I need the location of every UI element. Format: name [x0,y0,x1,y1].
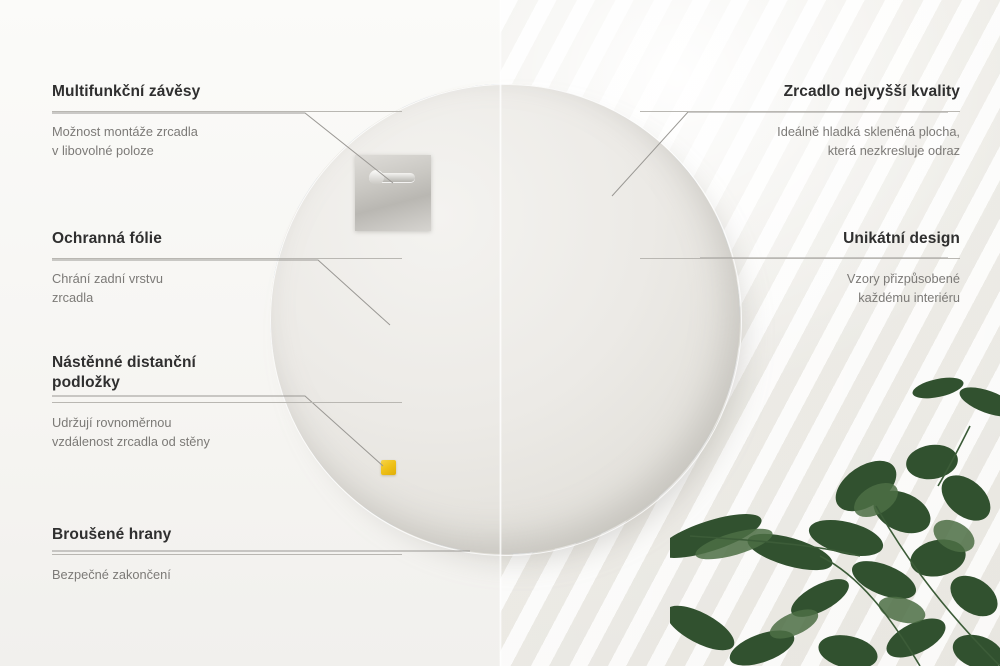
callout-rule [640,111,960,112]
hanger-bracket [355,155,431,231]
callout-title: Broušené hrany [52,525,402,545]
callout-title: Ochranná fólie [52,229,402,249]
callout-brousene-hrany: Broušené hrany Bezpečné zakončení [52,525,402,585]
callout-body: Vzory přizpůsobené každému interiéru [640,270,960,307]
callout-title: Nástěnné distanční podložky [52,353,402,393]
callout-zrcadlo-nejvyssi-kvality: Zrcadlo nejvyšší kvality Ideálně hladká … [640,82,960,160]
split-divider [499,0,502,666]
wall-spacer-pad [381,460,396,475]
callout-multifunkcni-zavesy: Multifunkční závěsy Možnost montáže zrca… [52,82,402,160]
callout-title: Unikátní design [640,229,960,249]
callout-rule [52,402,402,403]
callout-nastenne-distancni-podlozky: Nástěnné distanční podložky Udržují rovn… [52,353,402,451]
callout-rule [640,258,960,259]
callout-rule [52,554,402,555]
callout-title: Multifunkční závěsy [52,82,402,102]
callout-body: Možnost montáže zrcadla v libovolné polo… [52,123,402,160]
callout-ochranna-folie: Ochranná fólie Chrání zadní vrstvu zrcad… [52,229,402,307]
callout-rule [52,258,402,259]
callout-unikatni-design: Unikátní design Vzory přizpůsobené každé… [640,229,960,307]
callout-body: Udržují rovnoměrnou vzdálenost zrcadla o… [52,414,402,451]
product-infographic: Multifunkční závěsy Možnost montáže zrca… [0,0,1000,666]
callout-body: Chrání zadní vrstvu zrcadla [52,270,402,307]
hanger-keyhole-hole [369,170,384,185]
callout-title: Zrcadlo nejvyšší kvality [640,82,960,102]
callout-body: Ideálně hladká skleněná plocha, která ne… [640,123,960,160]
callout-rule [52,111,402,112]
callout-body: Bezpečné zakončení [52,566,402,585]
